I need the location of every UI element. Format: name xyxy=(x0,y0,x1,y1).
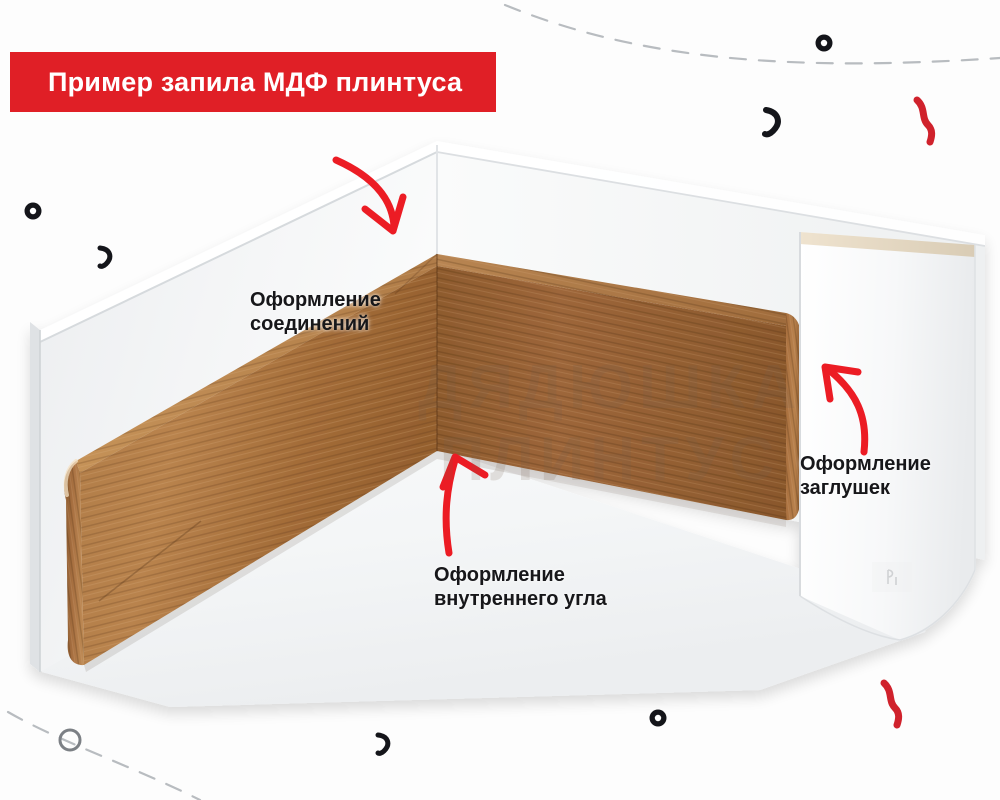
title-banner: Пример запила МДФ плинтуса xyxy=(10,52,496,112)
plinth-mockup-scene xyxy=(0,0,1000,800)
mockup-body xyxy=(30,141,985,707)
left-wall-left-thickness xyxy=(30,322,40,672)
callout-label-joints: Оформление соединений xyxy=(250,288,381,337)
plinth-right-end-cut-grain xyxy=(786,313,800,520)
title-banner-text: Пример запила МДФ плинтуса xyxy=(48,67,462,98)
screenshot-root: ДЯДЮШКА ПЛИНТУС Пример запила МДФ плинту… xyxy=(0,0,1000,800)
small-mark-icon xyxy=(872,562,912,592)
callout-label-inner-corner: Оформление внутреннего угла xyxy=(434,563,607,612)
callout-label-end-caps: Оформление заглушек xyxy=(800,452,931,501)
